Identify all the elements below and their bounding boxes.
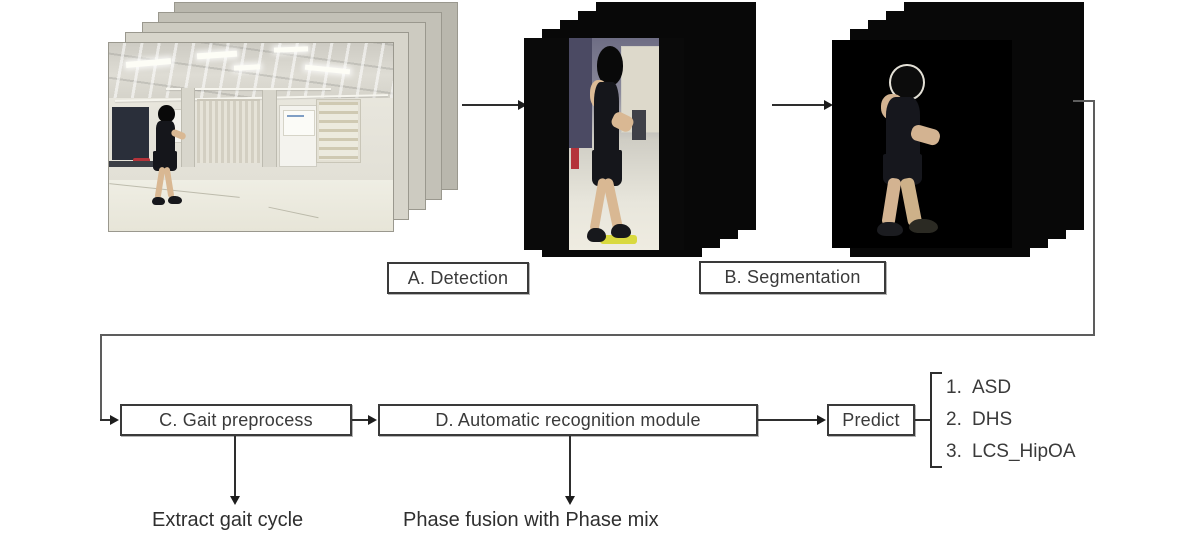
arrow-line-input-to-detection — [462, 104, 518, 106]
stage-box-segmentation-label: B. Segmentation — [724, 267, 860, 288]
input-frame-sheet-1 — [108, 42, 394, 232]
arrow-head-preprocess-to-recognition — [368, 415, 377, 425]
stage-box-gait-preprocess[interactable]: C. Gait preprocess — [120, 404, 352, 436]
routing-line-bottom-horizontal — [100, 334, 1095, 336]
detection-frame-stack — [524, 2, 774, 250]
poster-cabinet — [279, 105, 317, 167]
routing-line-right-vertical — [1093, 100, 1095, 336]
routing-line-left-vertical — [100, 334, 102, 420]
stage-box-detection[interactable]: A. Detection — [387, 262, 529, 294]
prediction-label: ASD — [972, 372, 1011, 404]
arrow-line-preprocess-to-caption — [234, 436, 236, 498]
anonymized-head — [158, 105, 175, 123]
ceiling-lamp — [274, 46, 308, 52]
input-video-frame-stack — [108, 2, 458, 230]
stage-box-detection-label: A. Detection — [408, 268, 508, 289]
walking-subject — [143, 105, 200, 208]
routing-line-segmentation-out-top — [1073, 100, 1095, 102]
connector-predict-to-predictions — [915, 419, 931, 421]
prediction-label: LCS_HipOA — [972, 436, 1076, 468]
arrow-head-into-preprocess — [110, 415, 119, 425]
arrow-head-recognition-to-predict — [817, 415, 826, 425]
stage-box-predict[interactable]: Predict — [827, 404, 915, 436]
lab-room-photo — [109, 43, 393, 231]
window-curtain — [197, 99, 259, 163]
segmented-subject — [864, 64, 970, 240]
prediction-label: DHS — [972, 404, 1012, 436]
shoe-back — [168, 196, 182, 204]
shoe-back — [587, 228, 606, 242]
prediction-number: 1. — [946, 372, 972, 404]
storage-shelf — [316, 99, 361, 163]
poster — [283, 110, 315, 136]
diagram-canvas: A. Detection B. Segmentation C. Gait pre… — [0, 0, 1200, 537]
arrow-line-recognition-to-predict — [758, 419, 818, 421]
arrow-line-recognition-to-caption — [569, 436, 571, 498]
detected-subject — [574, 46, 653, 245]
prediction-item[interactable]: 2. DHS — [946, 404, 1076, 436]
shoe-back — [877, 222, 904, 236]
arrow-head-preprocess-to-caption — [230, 496, 240, 505]
detection-crop — [569, 38, 659, 250]
stage-box-recognition-module-label: D. Automatic recognition module — [435, 410, 700, 431]
arrow-head-recognition-to-caption — [565, 496, 575, 505]
predictions-bracket — [930, 372, 942, 468]
arrow-line-preprocess-to-recognition — [352, 419, 368, 421]
stage-box-predict-label: Predict — [842, 410, 899, 431]
leg-back — [882, 178, 902, 227]
prediction-number: 2. — [946, 404, 972, 436]
segmentation-frame-sheet-1 — [832, 40, 1012, 248]
prediction-item[interactable]: 1. ASD — [946, 372, 1076, 404]
stage-box-recognition-module[interactable]: D. Automatic recognition module — [378, 404, 758, 436]
arrow-line-detection-to-segmentation — [772, 104, 824, 106]
ceiling-lamp — [234, 64, 260, 70]
shoe-front — [909, 219, 939, 233]
prediction-number: 3. — [946, 436, 972, 468]
predictions-list: 1. ASD 2. DHS 3. LCS_HipOA — [946, 372, 1076, 468]
segmentation-frame-stack — [832, 2, 1082, 250]
stage-box-gait-preprocess-label: C. Gait preprocess — [159, 410, 313, 431]
room-pillar — [262, 90, 277, 167]
ceiling — [109, 43, 393, 101]
shoe-front — [152, 197, 164, 205]
shoe-front — [611, 224, 632, 238]
stage-box-segmentation[interactable]: B. Segmentation — [699, 261, 886, 294]
caption-extract-gait-cycle: Extract gait cycle — [152, 509, 303, 532]
detection-frame-sheet-1 — [524, 38, 684, 250]
leg-back — [163, 167, 174, 199]
prediction-item[interactable]: 3. LCS_HipOA — [946, 436, 1076, 468]
caption-phase-fusion: Phase fusion with Phase mix — [403, 509, 659, 532]
